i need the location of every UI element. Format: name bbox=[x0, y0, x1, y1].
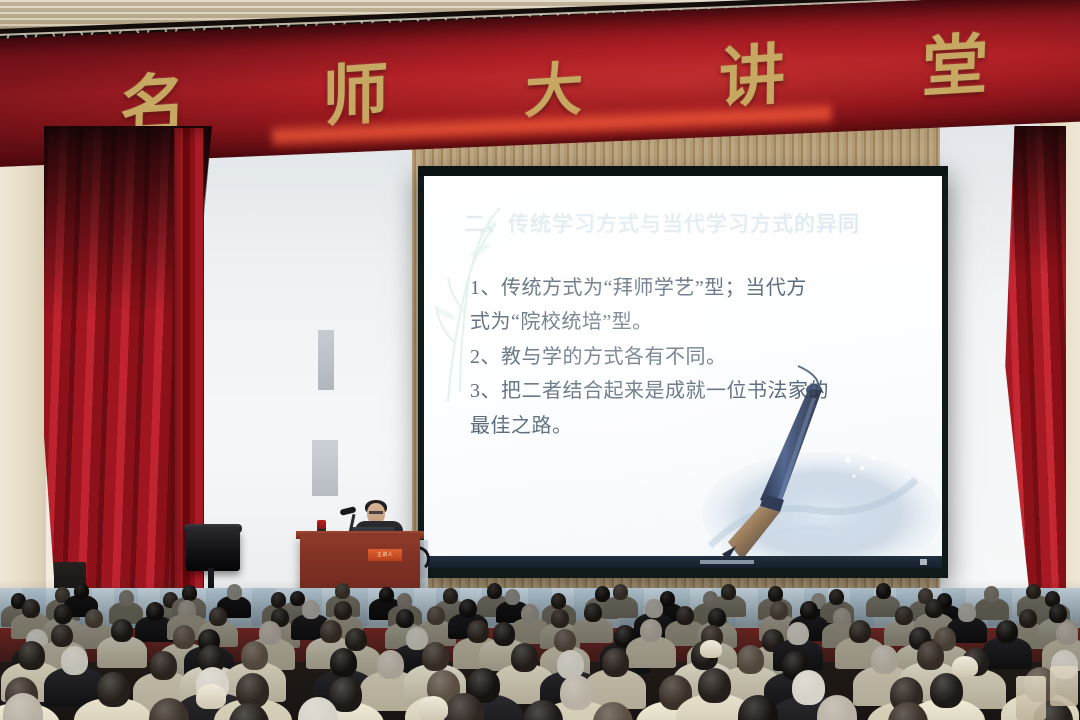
screen-bottom-bar bbox=[424, 556, 942, 568]
audience-member-head bbox=[511, 643, 538, 672]
audience-member-head bbox=[602, 648, 629, 677]
presentation-slide: 二、传统学习方式与当代学习方式的异同 1、传统方式为“拜师学艺”型；当代方 式为… bbox=[424, 176, 942, 568]
audience-member-head bbox=[427, 606, 445, 625]
audience-member-head bbox=[613, 584, 628, 600]
auditorium-seat bbox=[1016, 676, 1046, 720]
audience-member-head bbox=[917, 641, 944, 670]
audience-member-head bbox=[61, 646, 88, 675]
projection-screen-top-rail bbox=[418, 166, 948, 176]
screen-indicator-dot bbox=[920, 559, 927, 565]
audience-member-head bbox=[111, 619, 133, 642]
audience-member-head bbox=[241, 641, 268, 670]
grand-piano bbox=[186, 527, 240, 571]
audience-member-head bbox=[150, 651, 177, 680]
audience-member-head bbox=[459, 599, 477, 618]
audience-member-head bbox=[737, 645, 764, 674]
audience-member-head bbox=[467, 620, 489, 643]
slide-title: 二、传统学习方式与当代学习方式的异同 bbox=[464, 212, 934, 237]
audience-member-head bbox=[996, 620, 1018, 643]
audience-member-head bbox=[833, 608, 851, 627]
audience-member-head bbox=[85, 609, 103, 628]
banner-char-5: 堂 bbox=[921, 11, 992, 111]
audience-member-head bbox=[178, 600, 196, 619]
audience-member-head bbox=[958, 603, 976, 622]
audience-member-head bbox=[173, 625, 195, 648]
wall-vent-upper bbox=[318, 330, 334, 390]
audience-member-head bbox=[584, 603, 602, 622]
audience-member-head bbox=[895, 606, 913, 625]
audience-member-head bbox=[800, 601, 818, 620]
audience-member-head bbox=[97, 672, 130, 707]
audience-member-head bbox=[422, 642, 449, 671]
audience-member-head bbox=[22, 599, 40, 618]
audience-member-head bbox=[871, 645, 898, 674]
audience-member-head bbox=[397, 593, 412, 609]
audience-member-cap bbox=[196, 684, 226, 709]
audience-crowd bbox=[0, 580, 1080, 720]
audience-member-head bbox=[487, 583, 502, 599]
audience-member-head bbox=[1056, 622, 1078, 645]
audience-member-head bbox=[554, 629, 576, 652]
audience-member-head bbox=[640, 619, 662, 642]
audience-member-head bbox=[645, 599, 663, 618]
audience-member-head bbox=[330, 648, 357, 677]
audience-member-head bbox=[1049, 604, 1067, 623]
audience-member-head bbox=[1019, 609, 1037, 628]
audience-member-head bbox=[54, 604, 72, 623]
audience-member-head bbox=[770, 601, 788, 620]
audience-member-head bbox=[505, 589, 520, 605]
audience-member-head bbox=[379, 587, 394, 603]
audience-member-head bbox=[320, 620, 342, 643]
wall-vent-lower bbox=[312, 440, 338, 496]
audience-member-head bbox=[521, 604, 539, 623]
audience-member-head bbox=[698, 668, 731, 703]
auditorium-seat bbox=[1050, 666, 1078, 706]
audience-member-head bbox=[930, 673, 963, 708]
audience-member-head bbox=[396, 609, 414, 628]
audience-member-head bbox=[787, 622, 809, 645]
lecture-hall-photo: 名 师 大 讲 堂 bbox=[0, 0, 1080, 720]
audience-member-head bbox=[849, 620, 871, 643]
audience-member-head bbox=[18, 641, 45, 670]
audience-member-head bbox=[876, 583, 891, 599]
audience-member-head bbox=[259, 621, 281, 644]
audience-member-head bbox=[377, 650, 404, 679]
audience-member-head bbox=[676, 606, 694, 625]
audience-member-cap bbox=[418, 696, 448, 720]
audience-member-head bbox=[345, 628, 367, 651]
audience-member-head bbox=[443, 588, 458, 604]
audience-member-head bbox=[493, 622, 515, 645]
audience-member-head bbox=[768, 586, 783, 602]
audience-member-head bbox=[51, 624, 73, 647]
audience-member-head bbox=[119, 590, 134, 606]
audience-member-head bbox=[560, 675, 593, 710]
audience-member-cap bbox=[700, 640, 722, 658]
presenter-glasses-icon bbox=[369, 511, 383, 514]
screen-bottom-label bbox=[700, 560, 754, 564]
calligraphy-brush-icon bbox=[702, 364, 942, 568]
audience-member-head bbox=[829, 589, 844, 605]
audience-member-head bbox=[792, 670, 825, 705]
audience-member-head bbox=[1026, 584, 1041, 600]
audience-member-head bbox=[146, 602, 164, 621]
presenter-nameplate: 主讲人 bbox=[368, 549, 402, 561]
audience-member-head bbox=[335, 583, 350, 599]
audience-member-head bbox=[227, 584, 242, 600]
audience-member-head bbox=[925, 599, 943, 618]
audience-member-cap bbox=[952, 656, 978, 677]
audience-member-head bbox=[74, 583, 89, 599]
audience-member-head bbox=[334, 601, 352, 620]
audience-member-head bbox=[984, 586, 999, 602]
audience-member-head bbox=[551, 593, 566, 609]
audience-member-head bbox=[182, 585, 197, 601]
slide-bullet-1-line-1: 1、传统方式为“拜师学艺”型；当代方 bbox=[470, 272, 900, 304]
audience-member-head bbox=[721, 584, 736, 600]
audience-member-head bbox=[551, 609, 569, 628]
audience-member-head bbox=[209, 607, 227, 626]
slide-bullet-1-line-2: 式为“院校统培”型。 bbox=[470, 306, 900, 338]
audience-member-head bbox=[302, 600, 320, 619]
